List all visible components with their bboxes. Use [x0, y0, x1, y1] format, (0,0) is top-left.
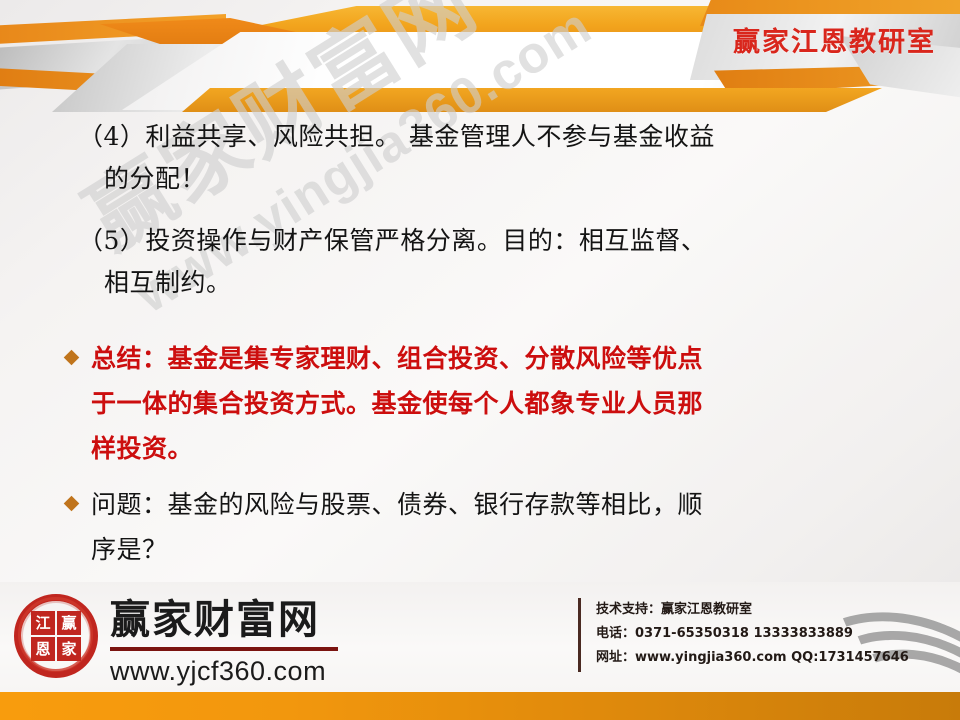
- seal-char-3: 恩: [31, 637, 55, 661]
- brand-website[interactable]: www.yjcf360.com: [110, 655, 338, 687]
- company-seal-logo: 江 赢 恩 家: [14, 594, 98, 678]
- seal-char-4: 家: [57, 637, 81, 661]
- slide-content: （4）利益共享、风险共担。 基金管理人不参与基金收益 的分配！ （5）投资操作与…: [0, 112, 960, 582]
- footer-bottom-bar: [0, 692, 960, 720]
- paragraph-4-line-2: 的分配！: [78, 158, 908, 200]
- bullet-question-text: 问题：基金的风险与股票、债券、银行存款等相比，顺 序是？: [91, 482, 703, 572]
- seal-char-2: 赢: [57, 611, 81, 635]
- bullet-summary-line-2: 于一体的集合投资方式。基金使每个人都象专业人员那: [91, 381, 703, 426]
- paragraph-5: （5）投资操作与财产保管严格分离。目的：相互监督、 相互制约。: [78, 220, 908, 304]
- bullet-summary-line-3: 样投资。: [91, 426, 703, 471]
- contact-divider: [578, 598, 581, 672]
- paragraph-5-line-2: 相互制约。: [78, 262, 908, 304]
- paragraph-5-line-1: （5）投资操作与财产保管严格分离。目的：相互监督、: [78, 226, 706, 255]
- contact-phone: 电话：0371-65350318 13333833889: [596, 622, 909, 646]
- diamond-bullet-icon: [64, 496, 80, 512]
- brand-block: 赢家财富网 www.yjcf360.com: [110, 596, 338, 687]
- contact-block: 技术支持：赢家江恩教研室 电话：0371-65350318 1333383388…: [596, 598, 909, 670]
- paragraph-4: （4）利益共享、风险共担。 基金管理人不参与基金收益 的分配！: [78, 116, 908, 200]
- contact-support: 技术支持：赢家江恩教研室: [596, 598, 909, 622]
- brand-name: 赢家财富网: [110, 596, 338, 644]
- bullet-summary-line-1: 总结：基金是集专家理财、组合投资、分散风险等优点: [91, 344, 703, 373]
- bullet-question-line-1: 问题：基金的风险与股票、债券、银行存款等相比，顺: [91, 490, 703, 519]
- diamond-bullet-icon: [64, 350, 80, 366]
- seal-char-1: 江: [31, 611, 55, 635]
- paragraph-4-line-1: （4）利益共享、风险共担。 基金管理人不参与基金收益: [78, 122, 715, 151]
- brand-divider: [110, 647, 338, 651]
- bullet-summary-text: 总结：基金是集专家理财、组合投资、分散风险等优点 于一体的集合投资方式。基金使每…: [91, 336, 703, 471]
- slide-footer: 江 赢 恩 家 赢家财富网 www.yjcf360.com 技术支持：赢家江恩教…: [0, 582, 960, 720]
- header-gold-strip-bottom: [182, 88, 882, 112]
- seal-character-grid: 江 赢 恩 家: [31, 611, 81, 661]
- bullet-summary: 总结：基金是集专家理财、组合投资、分散风险等优点 于一体的集合投资方式。基金使每…: [66, 336, 916, 471]
- bullet-question: 问题：基金的风险与股票、债券、银行存款等相比，顺 序是？: [66, 482, 916, 572]
- slide-header-banner: 赢家江恩教研室: [0, 0, 960, 112]
- presentation-slide: 赢家江恩教研室 赢家财富网 www.yingjia360.com （4）利益共享…: [0, 0, 960, 720]
- header-title: 赢家江恩教研室: [733, 20, 936, 59]
- contact-web[interactable]: 网址：www.yingjia360.com QQ:1731457646: [596, 646, 909, 670]
- bullet-question-line-2: 序是？: [91, 527, 703, 572]
